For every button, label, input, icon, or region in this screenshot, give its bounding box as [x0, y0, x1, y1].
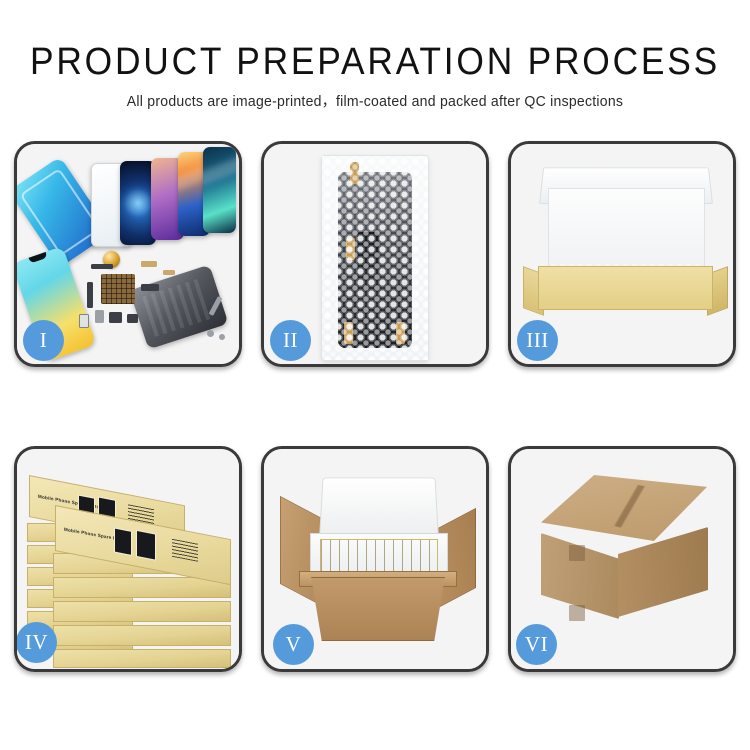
- part-chip-1: [91, 264, 113, 269]
- step-panel-5: V: [261, 446, 489, 672]
- part-bracket-2: [109, 312, 122, 323]
- carton-hand-hole-bottom: [569, 605, 585, 621]
- inner-box-tray: [538, 266, 713, 310]
- phone-screen-graphic-d: [203, 147, 236, 233]
- step-badge-2: II: [270, 320, 311, 361]
- part-bracket-1: [95, 310, 104, 323]
- carton-hand-hole-top: [569, 545, 585, 561]
- product-preparation-infographic: PRODUCT PREPARATION PROCESS All products…: [0, 0, 750, 750]
- step-badge-3: III: [517, 320, 558, 361]
- step-badge-1: I: [23, 320, 64, 361]
- part-flex-3: [141, 284, 159, 291]
- bubble-texture-offset: [322, 156, 428, 360]
- step-panel-1: I: [14, 141, 242, 367]
- step-panel-3: III: [508, 141, 736, 367]
- carton-right-face: [618, 527, 708, 617]
- part-bracket-3: [127, 314, 138, 323]
- foam-box-lid: [319, 477, 439, 539]
- steps-grid: I II: [14, 141, 736, 672]
- step-panel-6: VI: [508, 446, 736, 672]
- step-badge-6: VI: [516, 624, 557, 665]
- part-sim-tray: [79, 314, 89, 328]
- part-screw-2: [219, 334, 225, 340]
- step-panel-4: Mobile Phone Spare Parts Mobile Phone Sp…: [14, 446, 242, 672]
- part-flex-1: [141, 261, 157, 267]
- screw-tray-graphic: [101, 274, 135, 304]
- part-flex-2: [163, 270, 175, 275]
- stacked-box-r4: [53, 625, 231, 646]
- step-panel-2: II: [261, 141, 489, 367]
- part-cable-1: [87, 282, 93, 308]
- header: PRODUCT PREPARATION PROCESS All products…: [0, 0, 750, 111]
- stacked-box-r5: [53, 649, 231, 668]
- page-subtitle: All products are image-printed，film-coat…: [11, 93, 739, 111]
- part-screw-1: [207, 330, 214, 337]
- box-window-front-2: [136, 530, 156, 561]
- box-window-front-1: [114, 527, 132, 555]
- carton-body: [302, 577, 454, 641]
- bubble-wrap-bag: [321, 155, 429, 361]
- step-badge-5: V: [273, 624, 314, 665]
- stacked-box-r3: [53, 601, 231, 622]
- page-title: PRODUCT PREPARATION PROCESS: [26, 40, 724, 84]
- step-badge-4: IV: [16, 622, 57, 663]
- inner-box-lid: [548, 188, 705, 268]
- box-spec-text-front: [172, 539, 198, 562]
